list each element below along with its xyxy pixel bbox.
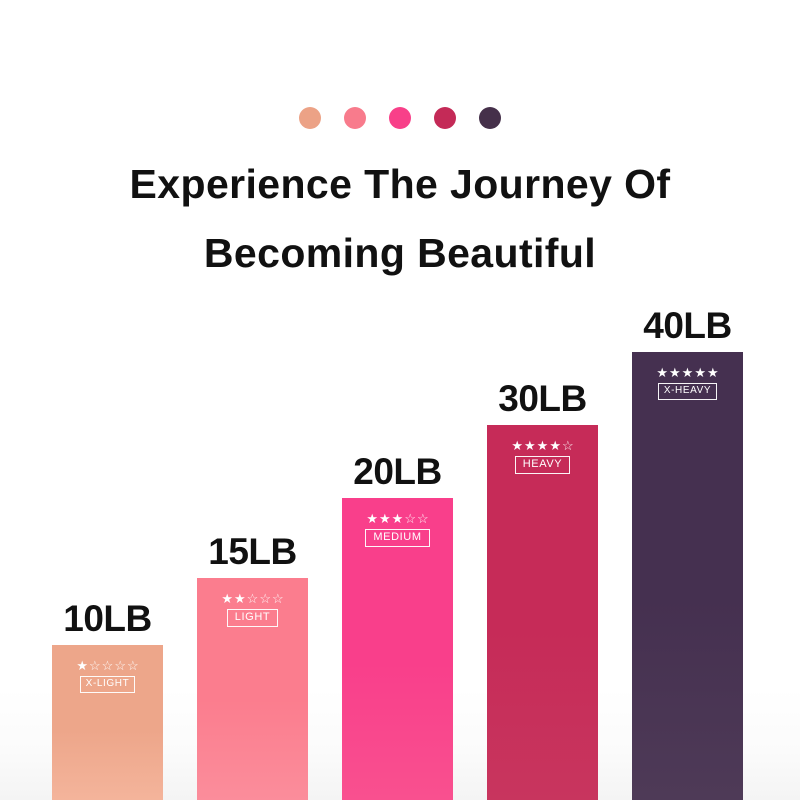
bar-rect[interactable]: ★★★★★X-HEAVY bbox=[632, 352, 743, 800]
bar-group-x-heavy[interactable]: 40LB★★★★★X-HEAVY bbox=[632, 352, 743, 800]
bar-value-label: 40LB bbox=[643, 305, 731, 347]
bar-group-x-light[interactable]: 10LB★☆☆☆☆X-LIGHT bbox=[52, 645, 163, 800]
bar-value-label: 10LB bbox=[63, 598, 151, 640]
star-filled-icon: ★ bbox=[524, 439, 536, 452]
bar-badge: ★★★☆☆MEDIUM bbox=[342, 512, 453, 547]
bar-value-label: 30LB bbox=[498, 378, 586, 420]
bar-value-label: 15LB bbox=[208, 531, 296, 573]
tier-label: X-HEAVY bbox=[658, 383, 717, 400]
star-filled-icon: ★ bbox=[669, 366, 681, 379]
star-rating: ★★☆☆☆ bbox=[221, 592, 283, 605]
star-empty-icon: ☆ bbox=[102, 659, 114, 672]
star-empty-icon: ☆ bbox=[114, 659, 126, 672]
star-filled-icon: ★ bbox=[392, 512, 404, 525]
bar-badge: ★★☆☆☆LIGHT bbox=[197, 592, 308, 627]
tier-label: LIGHT bbox=[227, 609, 278, 627]
tier-label: X-LIGHT bbox=[80, 676, 136, 693]
star-filled-icon: ★ bbox=[221, 592, 233, 605]
star-filled-icon: ★ bbox=[379, 512, 391, 525]
star-filled-icon: ★ bbox=[234, 592, 246, 605]
star-empty-icon: ☆ bbox=[272, 592, 284, 605]
bar-rect[interactable]: ★★★☆☆MEDIUM bbox=[342, 498, 453, 800]
bar-badge: ★☆☆☆☆X-LIGHT bbox=[52, 659, 163, 693]
bar-rect[interactable]: ★☆☆☆☆X-LIGHT bbox=[52, 645, 163, 800]
star-filled-icon: ★ bbox=[537, 439, 549, 452]
star-filled-icon: ★ bbox=[707, 366, 719, 379]
star-empty-icon: ☆ bbox=[247, 592, 259, 605]
bar-rect[interactable]: ★★☆☆☆LIGHT bbox=[197, 578, 308, 800]
tier-label: HEAVY bbox=[515, 456, 570, 474]
star-empty-icon: ☆ bbox=[89, 659, 101, 672]
bar-badge: ★★★★☆HEAVY bbox=[487, 439, 598, 474]
resistance-bar-chart: 10LB★☆☆☆☆X-LIGHT15LB★★☆☆☆LIGHT20LB★★★☆☆M… bbox=[0, 0, 800, 800]
tier-label: MEDIUM bbox=[365, 529, 429, 547]
star-filled-icon: ★ bbox=[682, 366, 694, 379]
star-rating: ★☆☆☆☆ bbox=[76, 659, 138, 672]
bar-badge: ★★★★★X-HEAVY bbox=[632, 366, 743, 400]
bar-group-heavy[interactable]: 30LB★★★★☆HEAVY bbox=[487, 425, 598, 800]
product-poster: Experience The Journey Of Becoming Beaut… bbox=[0, 0, 800, 800]
star-filled-icon: ★ bbox=[511, 439, 523, 452]
star-empty-icon: ☆ bbox=[417, 512, 429, 525]
star-empty-icon: ☆ bbox=[259, 592, 271, 605]
star-empty-icon: ☆ bbox=[562, 439, 574, 452]
star-filled-icon: ★ bbox=[366, 512, 378, 525]
star-filled-icon: ★ bbox=[656, 366, 668, 379]
bar-value-label: 20LB bbox=[353, 451, 441, 493]
star-filled-icon: ★ bbox=[694, 366, 706, 379]
star-filled-icon: ★ bbox=[76, 659, 88, 672]
bar-group-medium[interactable]: 20LB★★★☆☆MEDIUM bbox=[342, 498, 453, 800]
star-filled-icon: ★ bbox=[549, 439, 561, 452]
bar-rect[interactable]: ★★★★☆HEAVY bbox=[487, 425, 598, 800]
star-rating: ★★★☆☆ bbox=[366, 512, 428, 525]
star-empty-icon: ☆ bbox=[127, 659, 139, 672]
star-rating: ★★★★☆ bbox=[511, 439, 573, 452]
star-rating: ★★★★★ bbox=[656, 366, 718, 379]
bar-group-light[interactable]: 15LB★★☆☆☆LIGHT bbox=[197, 578, 308, 800]
star-empty-icon: ☆ bbox=[404, 512, 416, 525]
